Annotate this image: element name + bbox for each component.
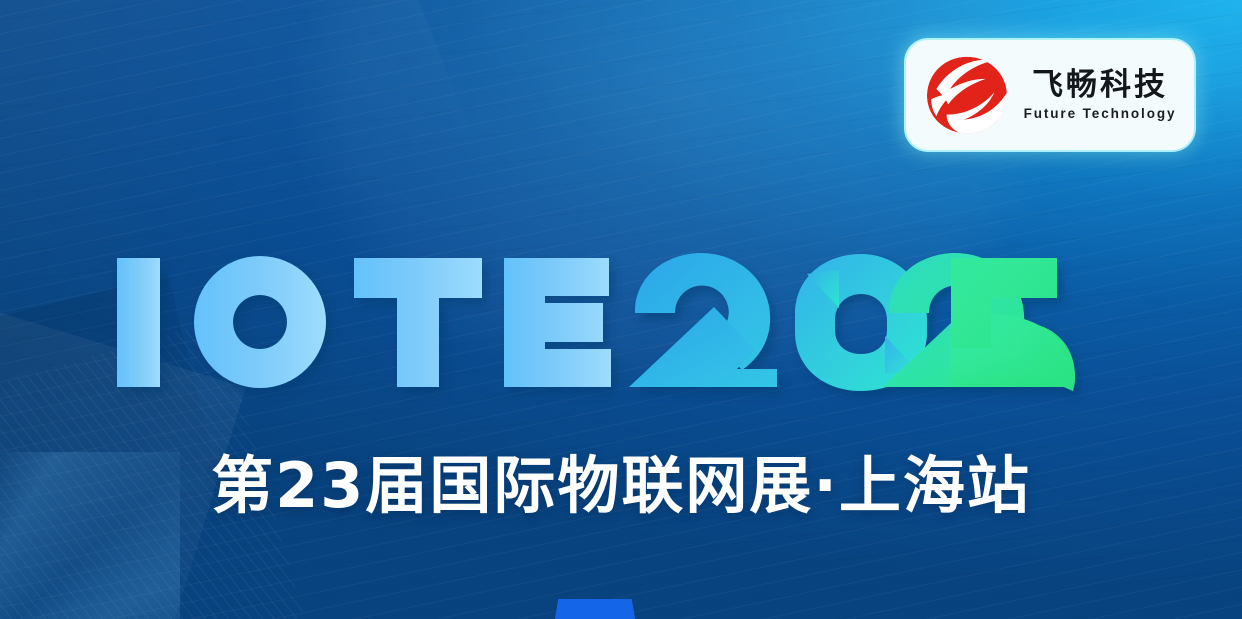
company-name-cn: 飞畅科技 — [1032, 69, 1168, 102]
event-wordmark-graphic — [117, 250, 1077, 395]
company-name-en: Future Technology — [1024, 106, 1177, 121]
company-logo-badge[interactable]: 飞畅科技 Future Technology — [906, 40, 1194, 150]
company-logo-text: 飞畅科技 Future Technology — [1022, 69, 1178, 122]
event-wordmark — [117, 250, 1077, 395]
event-subtitle: 第23届国际物联网展·上海站 — [0, 455, 1242, 517]
feichang-swoosh-mark-icon — [924, 55, 1010, 135]
bottom-center-chip — [555, 599, 635, 619]
iote-2025-banner: 飞畅科技 Future Technology — [0, 0, 1242, 619]
